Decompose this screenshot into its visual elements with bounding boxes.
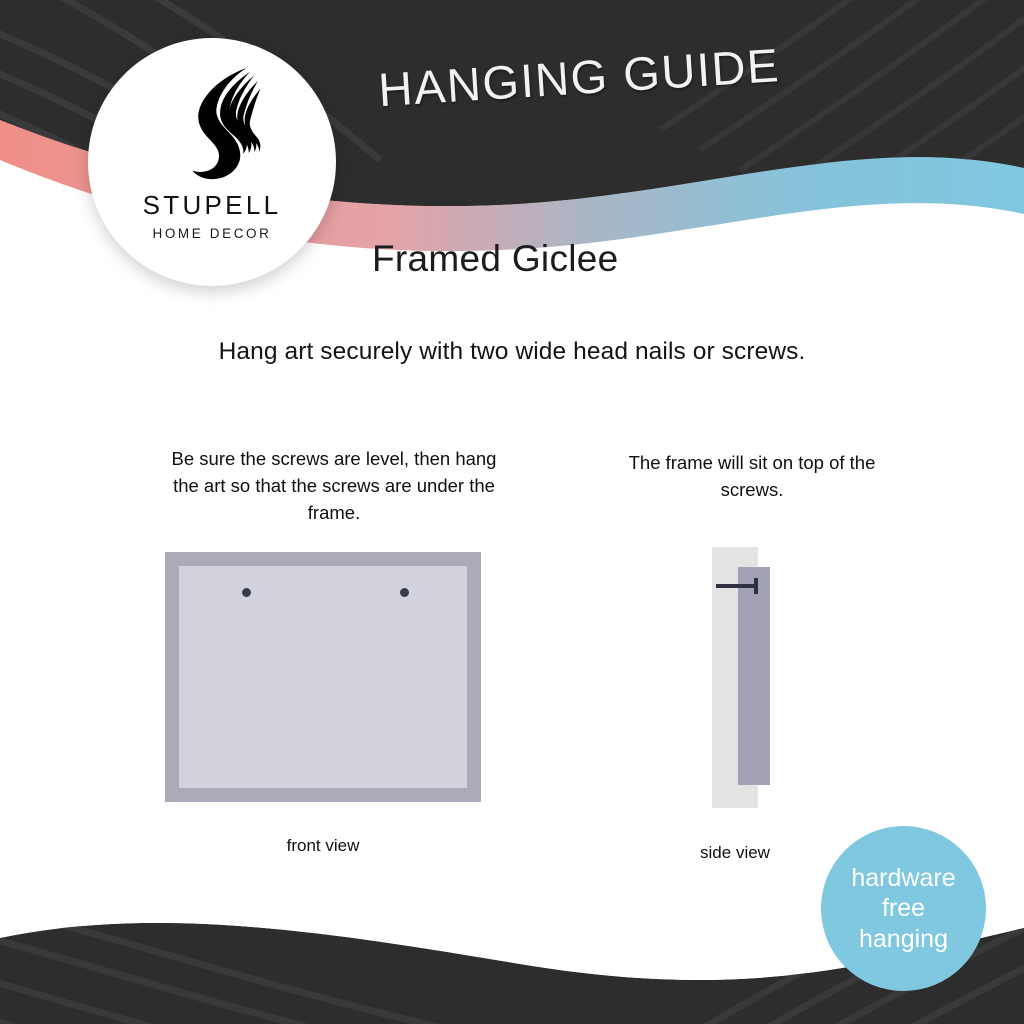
side-view-caption: The frame will sit on top of the screws. xyxy=(612,450,892,504)
front-view-label: front view xyxy=(200,836,446,856)
nail-head-icon xyxy=(754,578,758,594)
screw-hole-left-icon xyxy=(242,588,251,597)
badge-line-2: free xyxy=(882,893,925,924)
logo-subwordmark: HOME DECOR xyxy=(152,226,271,241)
side-view-frame xyxy=(738,567,770,785)
badge-line-3: hanging xyxy=(859,924,948,955)
side-view-frame-diagram xyxy=(700,540,810,820)
stupell-swan-s-mark-icon xyxy=(160,66,264,182)
nail-shaft-icon xyxy=(716,584,758,588)
front-view-mat xyxy=(179,566,467,788)
page-title: HANGING GUIDE xyxy=(377,30,899,118)
lead-instruction-text: Hang art securely with two wide head nai… xyxy=(0,338,1024,366)
hanging-guide-page: STUPELL HOME DECOR HANGING GUIDE Framed … xyxy=(0,0,1024,1024)
product-type-heading: Framed Giclee xyxy=(372,238,619,280)
front-view-caption: Be sure the screws are level, then hang … xyxy=(160,446,508,526)
badge-line-1: hardware xyxy=(851,863,955,894)
hardware-free-hanging-badge: hardware free hanging xyxy=(821,826,986,991)
front-view-frame-diagram xyxy=(165,552,481,802)
logo-wordmark: STUPELL xyxy=(143,190,282,221)
brand-logo-badge: STUPELL HOME DECOR xyxy=(88,38,336,286)
side-view-label: side view xyxy=(655,843,815,863)
screw-hole-right-icon xyxy=(400,588,409,597)
